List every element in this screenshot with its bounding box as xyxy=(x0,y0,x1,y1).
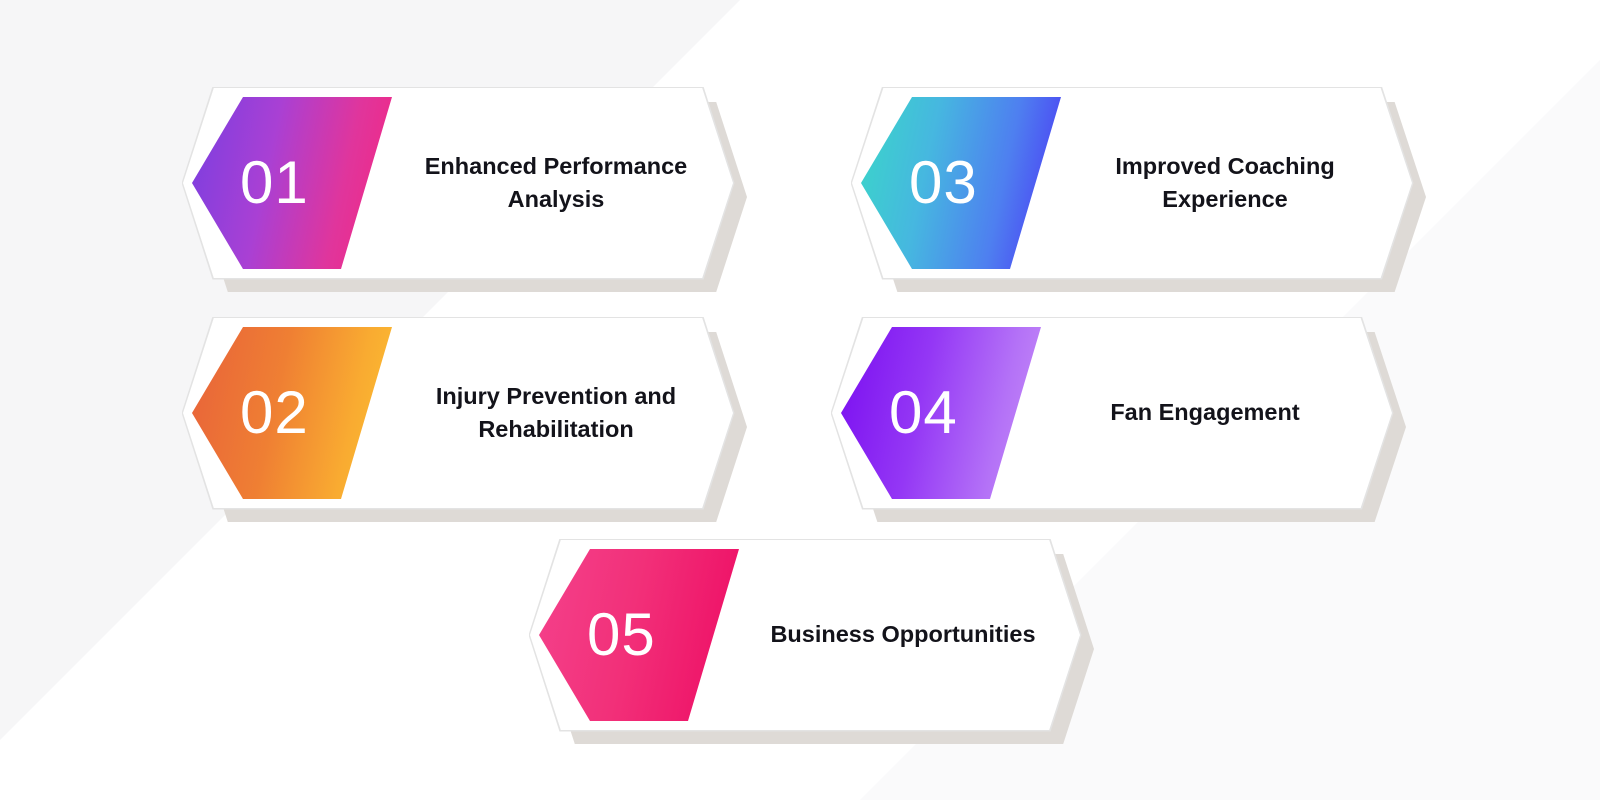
benefit-card-01[interactable]: 01 Enhanced Performance Analysis xyxy=(183,88,733,278)
card-number: 01 xyxy=(240,153,309,213)
card-label: Improved Coaching Experience xyxy=(1060,88,1390,278)
card-label: Fan Engagement xyxy=(1040,318,1370,508)
benefit-card-04[interactable]: 04 Fan Engagement xyxy=(832,318,1392,508)
infographic-canvas: 01 Enhanced Performance Analysis 02 Inju… xyxy=(0,0,1600,800)
card-number: 04 xyxy=(889,383,958,443)
benefit-card-02[interactable]: 02 Injury Prevention and Rehabilitation xyxy=(183,318,733,508)
card-label: Injury Prevention and Rehabilitation xyxy=(391,318,721,508)
card-number: 02 xyxy=(240,383,309,443)
card-number: 03 xyxy=(909,153,978,213)
benefit-card-03[interactable]: 03 Improved Coaching Experience xyxy=(852,88,1412,278)
benefit-card-05[interactable]: 05 Business Opportunities xyxy=(530,540,1080,730)
card-label: Business Opportunities xyxy=(738,540,1068,730)
card-label: Enhanced Performance Analysis xyxy=(391,88,721,278)
card-number: 05 xyxy=(587,605,656,665)
